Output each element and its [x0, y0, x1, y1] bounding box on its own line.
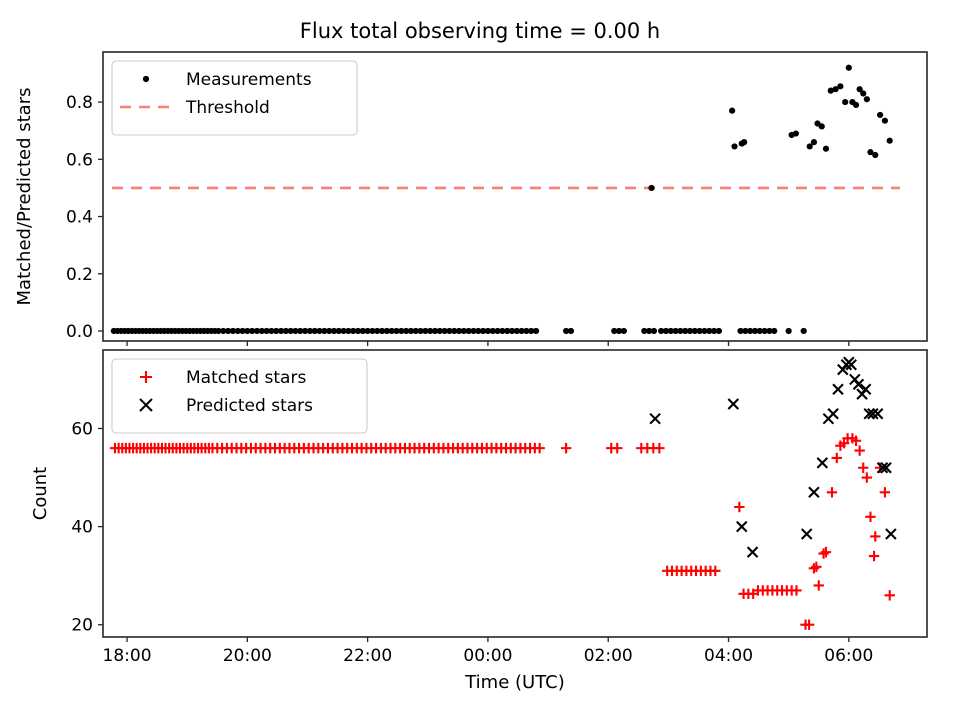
legend: Matched starsPredicted stars	[112, 359, 367, 433]
legend-label: Predicted stars	[186, 396, 313, 416]
data-point	[568, 328, 574, 334]
data-point	[793, 130, 799, 136]
data-point	[872, 152, 878, 158]
data-point	[786, 328, 792, 334]
page-title: Flux total observing time = 0.00 h	[300, 19, 660, 43]
data-point	[801, 328, 807, 334]
data-point	[651, 328, 657, 334]
x-tick-label: 02:00	[584, 646, 633, 666]
x-tick-label: 20:00	[223, 646, 272, 666]
data-point	[729, 108, 735, 114]
data-point	[887, 138, 893, 144]
y-tick-label: 0.0	[66, 322, 93, 342]
legend: MeasurementsThreshold	[112, 61, 357, 135]
data-point	[771, 328, 777, 334]
data-point	[533, 328, 539, 334]
legend-label: Threshold	[185, 98, 270, 118]
y-tick-label: 0.4	[66, 208, 93, 228]
y-tick-label: 40	[71, 518, 93, 538]
data-point	[716, 328, 722, 334]
x-tick-label: 18:00	[103, 646, 152, 666]
y-axis-label: Matched/Predicted stars	[14, 88, 35, 306]
data-point	[837, 83, 843, 89]
figure-canvas: Flux total observing time = 0.00 h 0.00.…	[0, 0, 960, 720]
legend-label: Measurements	[186, 70, 312, 90]
data-point	[877, 112, 883, 118]
data-point	[731, 143, 737, 149]
x-tick-label: 04:00	[704, 646, 753, 666]
y-tick-label: 20	[71, 616, 93, 636]
y-tick-label: 0.8	[66, 93, 93, 113]
data-point	[853, 102, 859, 108]
x-tick-label: 06:00	[824, 646, 873, 666]
data-point	[648, 185, 654, 191]
data-point	[864, 96, 870, 102]
legend-label: Matched stars	[186, 368, 306, 388]
data-point	[811, 139, 817, 145]
data-point	[842, 99, 848, 105]
data-point	[846, 65, 852, 71]
y-tick-label: 60	[71, 419, 93, 439]
y-axis-label: Count	[30, 467, 51, 520]
data-point	[823, 146, 829, 152]
y-tick-label: 0.2	[66, 265, 93, 285]
x-tick-label: 22:00	[343, 646, 392, 666]
legend-marker-point	[143, 76, 149, 82]
y-tick-label: 0.6	[66, 150, 93, 170]
data-point	[860, 90, 866, 96]
data-point	[621, 328, 627, 334]
data-point	[819, 123, 825, 129]
figure-root: Flux total observing time = 0.00 h 0.00.…	[0, 0, 960, 720]
x-axis-label: Time (UTC)	[464, 672, 565, 693]
data-point	[882, 118, 888, 124]
x-tick-label: 00:00	[463, 646, 512, 666]
data-point	[741, 139, 747, 145]
